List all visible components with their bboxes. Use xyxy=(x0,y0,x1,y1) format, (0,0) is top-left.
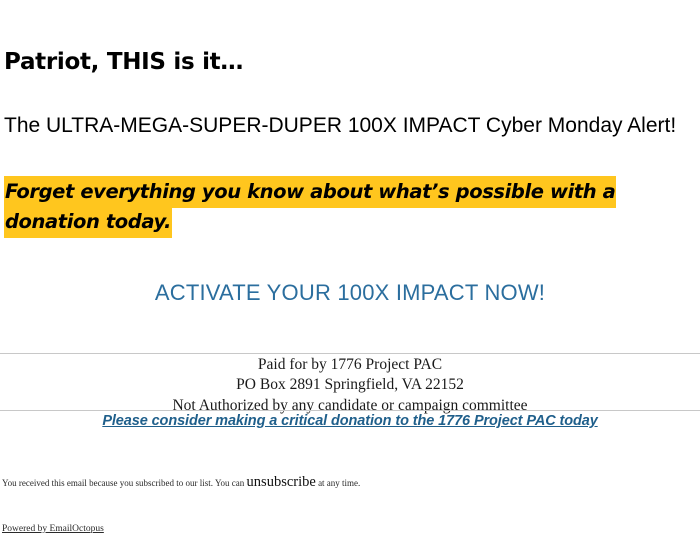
unsubscribe-notice: You received this email because you subs… xyxy=(2,474,360,491)
highlighted-pitch: Forget everything you know about what’s … xyxy=(0,182,700,241)
highlight-mark: donation today. xyxy=(4,206,172,238)
highlighted-pitch-line-2: donation today. xyxy=(4,212,700,232)
powered-by-link[interactable]: Powered by EmailOctopus xyxy=(2,524,104,534)
highlight-mark: Forget everything you know about what’s … xyxy=(4,176,616,208)
donate-footer-link[interactable]: Please consider making a critical donati… xyxy=(102,413,597,429)
highlighted-pitch-line-1: Forget everything you know about what’s … xyxy=(4,182,700,202)
unsubscribe-link[interactable]: unsubscribe xyxy=(247,474,316,490)
footer-divider-bottom xyxy=(0,410,700,411)
donate-container: Please consider making a critical donati… xyxy=(0,412,700,430)
pac-disclaimer: Paid for by 1776 Project PAC PO Box 2891… xyxy=(0,355,700,416)
unsubscribe-prefix-text: You received this email because you subs… xyxy=(2,478,247,488)
disclaimer-paid-for: Paid for by 1776 Project PAC xyxy=(0,355,700,375)
cta-container: ACTIVATE YOUR 100X IMPACT NOW! xyxy=(0,280,700,306)
disclaimer-address: PO Box 2891 Springfield, VA 22152 xyxy=(0,375,700,395)
activate-impact-cta-link[interactable]: ACTIVATE YOUR 100X IMPACT NOW! xyxy=(155,280,545,305)
unsubscribe-suffix-text: at any time. xyxy=(316,478,361,488)
footer-divider-top xyxy=(0,353,700,354)
email-headline: Patriot, THIS is it… xyxy=(0,50,243,75)
email-subheadline: The ULTRA-MEGA-SUPER-DUPER 100X IMPACT C… xyxy=(0,114,676,138)
